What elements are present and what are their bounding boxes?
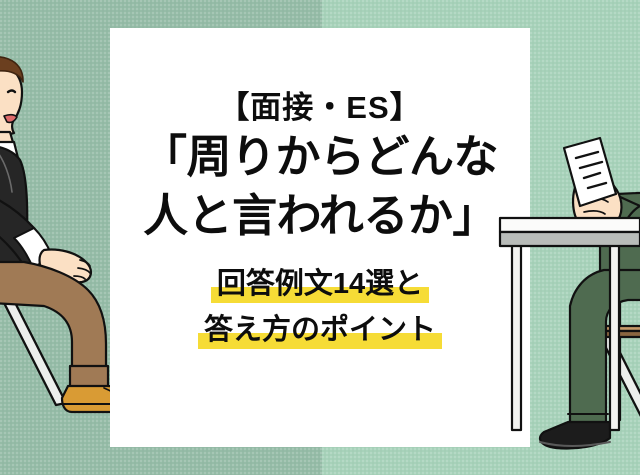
headline-line-1: 「周りからどんな [142,130,498,185]
card-text-block: 【面接・ES】 「周りからどんな 人と言われるか」 回答例文14選と 答え方のポ… [110,28,530,447]
headline-line-2: 人と言われるか」 [143,189,497,244]
subtitle-line-1-text: 回答例文14選と [217,268,423,300]
subtitle-line-2: 答え方のポイント [198,315,442,347]
subtitle-line-1: 回答例文14選と [211,269,429,301]
subtitle-line-2-text: 答え方のポイント [204,314,436,346]
thumbnail-canvas: 【面接・ES】 「周りからどんな 人と言われるか」 回答例文14選と 答え方のポ… [0,0,640,475]
subtitle-group: 回答例文14選と 答え方のポイント [198,269,442,347]
kicker-label: 【面接・ES】 [218,90,421,126]
